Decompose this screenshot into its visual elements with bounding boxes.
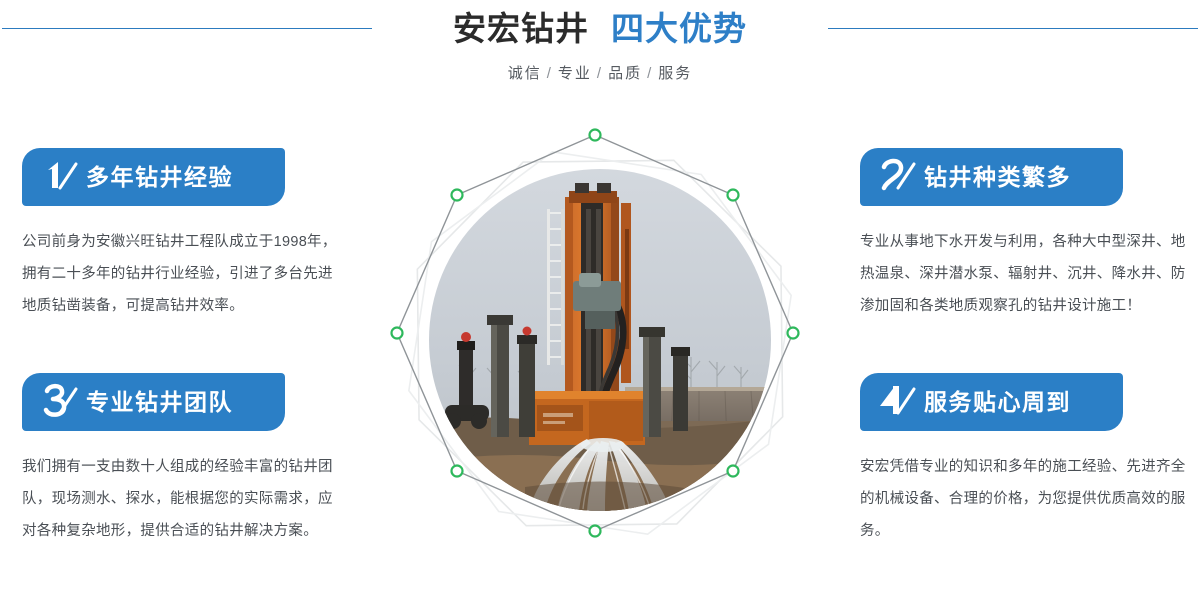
advantage-card-2: 钻井种类繁多 专业从事地下水开发与利用，各种大中型深井、地热温泉、深井潜水泵、辐… <box>860 148 1190 322</box>
advantage-title-3: 专业钻井团队 <box>86 387 233 417</box>
advantage-title-2: 钻井种类繁多 <box>924 162 1071 192</box>
advantage-body-4: 安宏凭借专业的知识和多年的施工经验、先进齐全的机械设备、合理的价格，为您提供优质… <box>860 451 1188 547</box>
number-three-icon <box>38 379 84 425</box>
subtitle-separator-2: / <box>647 65 653 82</box>
page-title-accent: 四大优势 <box>611 10 747 47</box>
page-title-primary: 安宏钻井 <box>453 10 589 47</box>
subtitle-item-1: 专业 <box>558 65 592 82</box>
advantage-body-3: 我们拥有一支由数十人组成的经验丰富的钻井团队，现场测水、探水，能根据您的实际需求… <box>22 451 344 547</box>
page-subtitle: 诚信/专业/品质/服务 <box>0 62 1200 86</box>
advantage-body-2: 专业从事地下水开发与利用，各种大中型深井、地热温泉、深井潜水泵、辐射井、沉井、降… <box>860 226 1188 322</box>
advantage-body-1: 公司前身为安徽兴旺钻井工程队成立于1998年，拥有二十多年的钻井行业经验，引进了… <box>22 226 344 322</box>
drilling-rig-photo <box>429 169 771 511</box>
advantage-card-4: 服务贴心周到 安宏凭借专业的知识和多年的施工经验、先进齐全的机械设备、合理的价格… <box>860 373 1190 547</box>
subtitle-separator-0: / <box>547 65 553 82</box>
page-header: 安宏钻井四大优势 诚信/专业/品质/服务 <box>0 0 1200 110</box>
subtitle-item-3: 服务 <box>658 65 692 82</box>
number-one-icon <box>38 154 84 200</box>
advantage-card-1: 多年钻井经验 公司前身为安徽兴旺钻井工程队成立于1998年，拥有二十多年的钻井行… <box>22 148 352 322</box>
advantage-badge-2: 钻井种类繁多 <box>860 148 1123 206</box>
advantage-badge-4: 服务贴心周到 <box>860 373 1123 431</box>
page-title: 安宏钻井四大优势 <box>0 8 1200 50</box>
advantage-badge-1: 多年钻井经验 <box>22 148 285 206</box>
center-graphic <box>370 110 830 570</box>
advantage-card-3: 专业钻井团队 我们拥有一支由数十人组成的经验丰富的钻井团队，现场测水、探水，能根… <box>22 373 352 547</box>
advantage-title-4: 服务贴心周到 <box>924 387 1071 417</box>
subtitle-item-0: 诚信 <box>508 65 542 82</box>
number-two-icon <box>876 154 922 200</box>
advantage-badge-3: 专业钻井团队 <box>22 373 285 431</box>
number-four-icon <box>876 379 922 425</box>
advantage-title-1: 多年钻井经验 <box>86 162 233 192</box>
subtitle-separator-1: / <box>597 65 603 82</box>
subtitle-item-2: 品质 <box>608 65 642 82</box>
